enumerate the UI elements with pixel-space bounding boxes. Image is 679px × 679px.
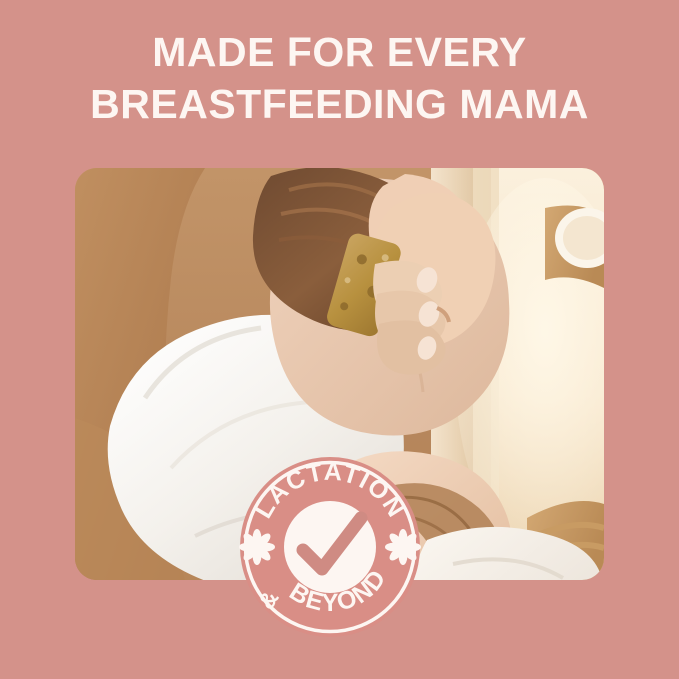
badge-seal: LACTATION BEYOND & (237, 454, 423, 640)
flower-rosette-icon-right (385, 529, 421, 565)
headline-line-2: BREASTFEEDING MAMA (0, 78, 679, 130)
lactation-and-beyond-badge: LACTATION BEYOND & (237, 454, 423, 640)
headline-line-1: MADE FOR EVERY (0, 26, 679, 78)
flower-rosette-icon-left (239, 529, 275, 565)
page-title: MADE FOR EVERY BREASTFEEDING MAMA (0, 26, 679, 130)
